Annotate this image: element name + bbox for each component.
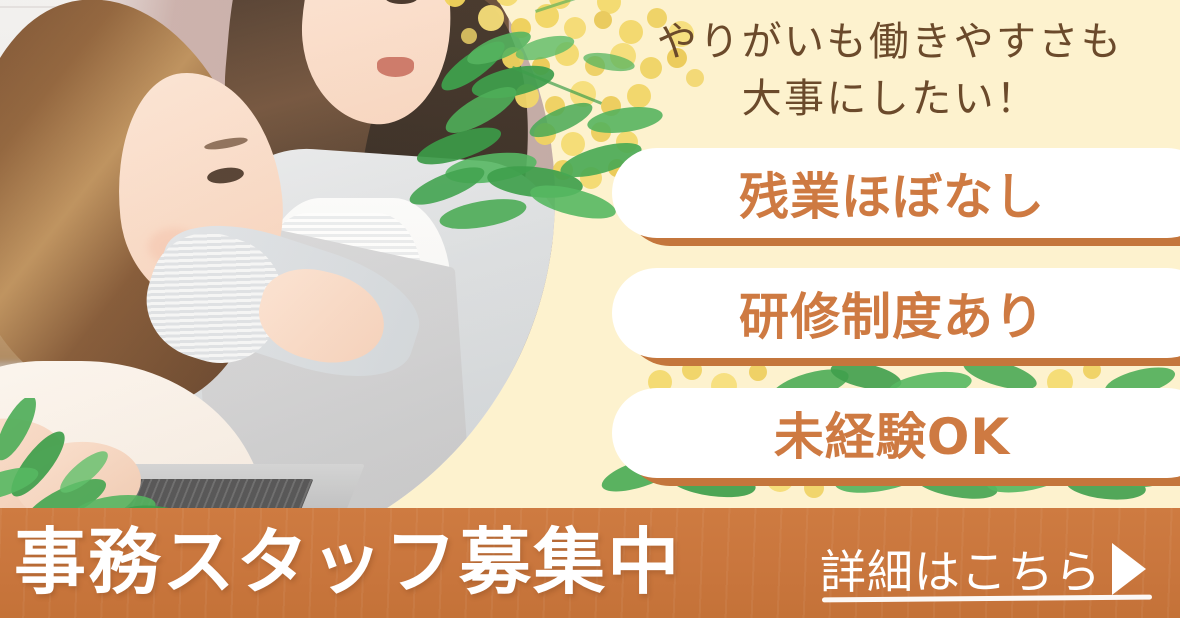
feature-badge-no-experience[interactable]: 未経験OK [612, 388, 1180, 478]
badge-label: 研修制度あり [612, 268, 1172, 358]
tagline-line-1: やりがいも働きやすさも [600, 14, 1180, 71]
details-link-label: 詳細はこちら [820, 536, 1102, 602]
badge-label: 残業ほぼなし [612, 148, 1172, 238]
details-link[interactable]: 詳細はこちら [820, 536, 1146, 602]
play-triangle-icon [1112, 543, 1146, 595]
page-title: 事務スタッフ募集中 [14, 522, 681, 602]
badge-label: 未経験OK [612, 388, 1172, 478]
feature-badge-no-overtime[interactable]: 残業ほぼなし [612, 148, 1180, 238]
bottom-cta-bar[interactable]: 事務スタッフ募集中 詳細はこちら [0, 508, 1180, 618]
tagline: やりがいも働きやすさも 大事にしたい！ [600, 14, 1180, 128]
feature-badge-training[interactable]: 研修制度あり [612, 268, 1180, 358]
tagline-line-2: 大事にしたい！ [600, 71, 1180, 128]
recruitment-banner: やりがいも働きやすさも 大事にしたい！ 残業ほぼなし 研修制度あり 未経験OK … [0, 0, 1180, 618]
